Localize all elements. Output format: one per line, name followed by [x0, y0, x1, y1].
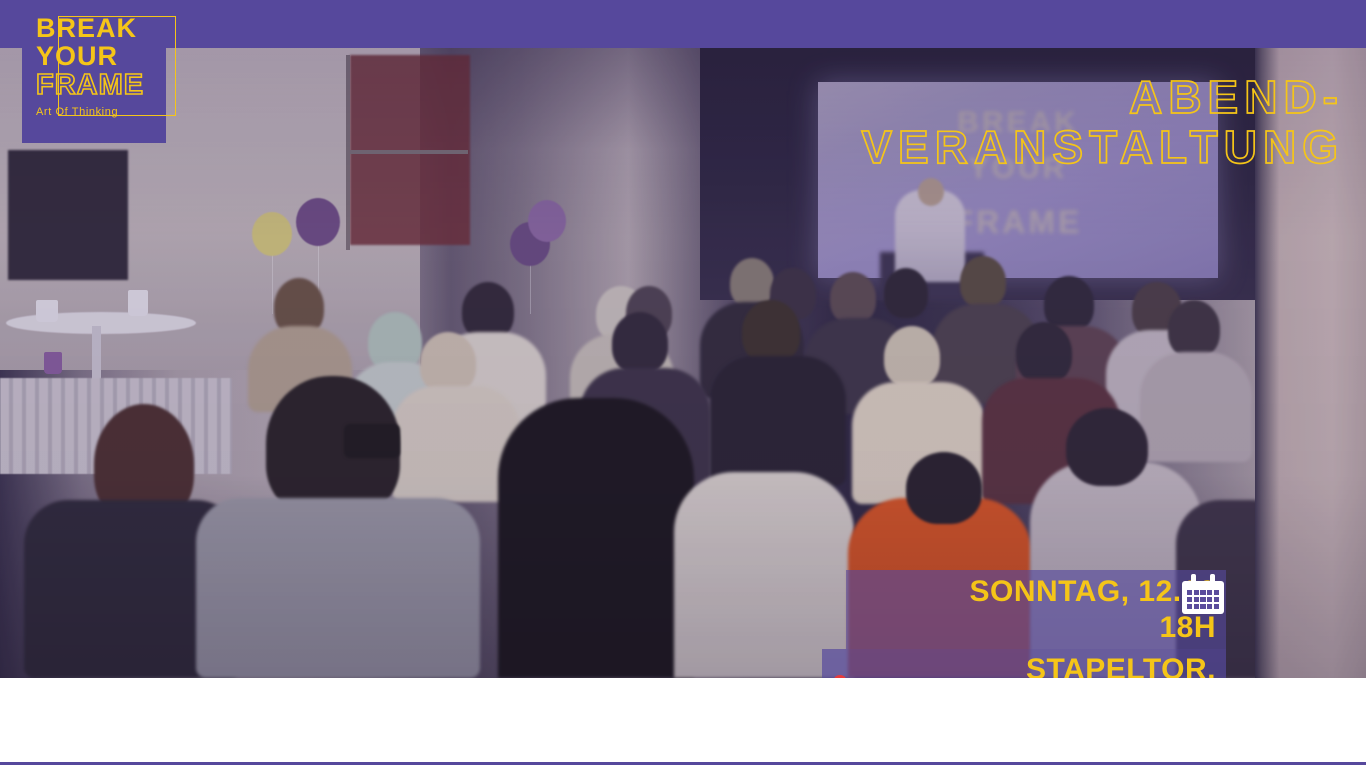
bottom-accent-rule — [0, 762, 1366, 765]
logo-line-your: YOUR — [22, 42, 166, 70]
headline-line-2: VERANSTALTUNG — [584, 122, 1344, 172]
calendar-icon — [1182, 574, 1224, 614]
brand-logo[interactable]: BREAK YOUR FRAME Art Of Thinking — [22, 0, 166, 143]
top-accent-bar — [0, 0, 1366, 48]
event-time: 18H — [846, 611, 1226, 649]
footer: Finanziert von der Europäischen Union MU… — [0, 678, 1366, 768]
event-date: SONNTAG, 12.10 — [846, 570, 1226, 611]
event-poster: BREAK YOUR FRAME — [0, 0, 1366, 768]
page-title: ABEND- VERANSTALTUNG — [584, 72, 1344, 172]
logo-tagline: Art Of Thinking — [22, 106, 166, 118]
headline-line-1: ABEND- — [584, 72, 1344, 122]
logo-line-break: BREAK — [22, 14, 166, 42]
logo-line-frame: FRAME — [22, 70, 166, 100]
